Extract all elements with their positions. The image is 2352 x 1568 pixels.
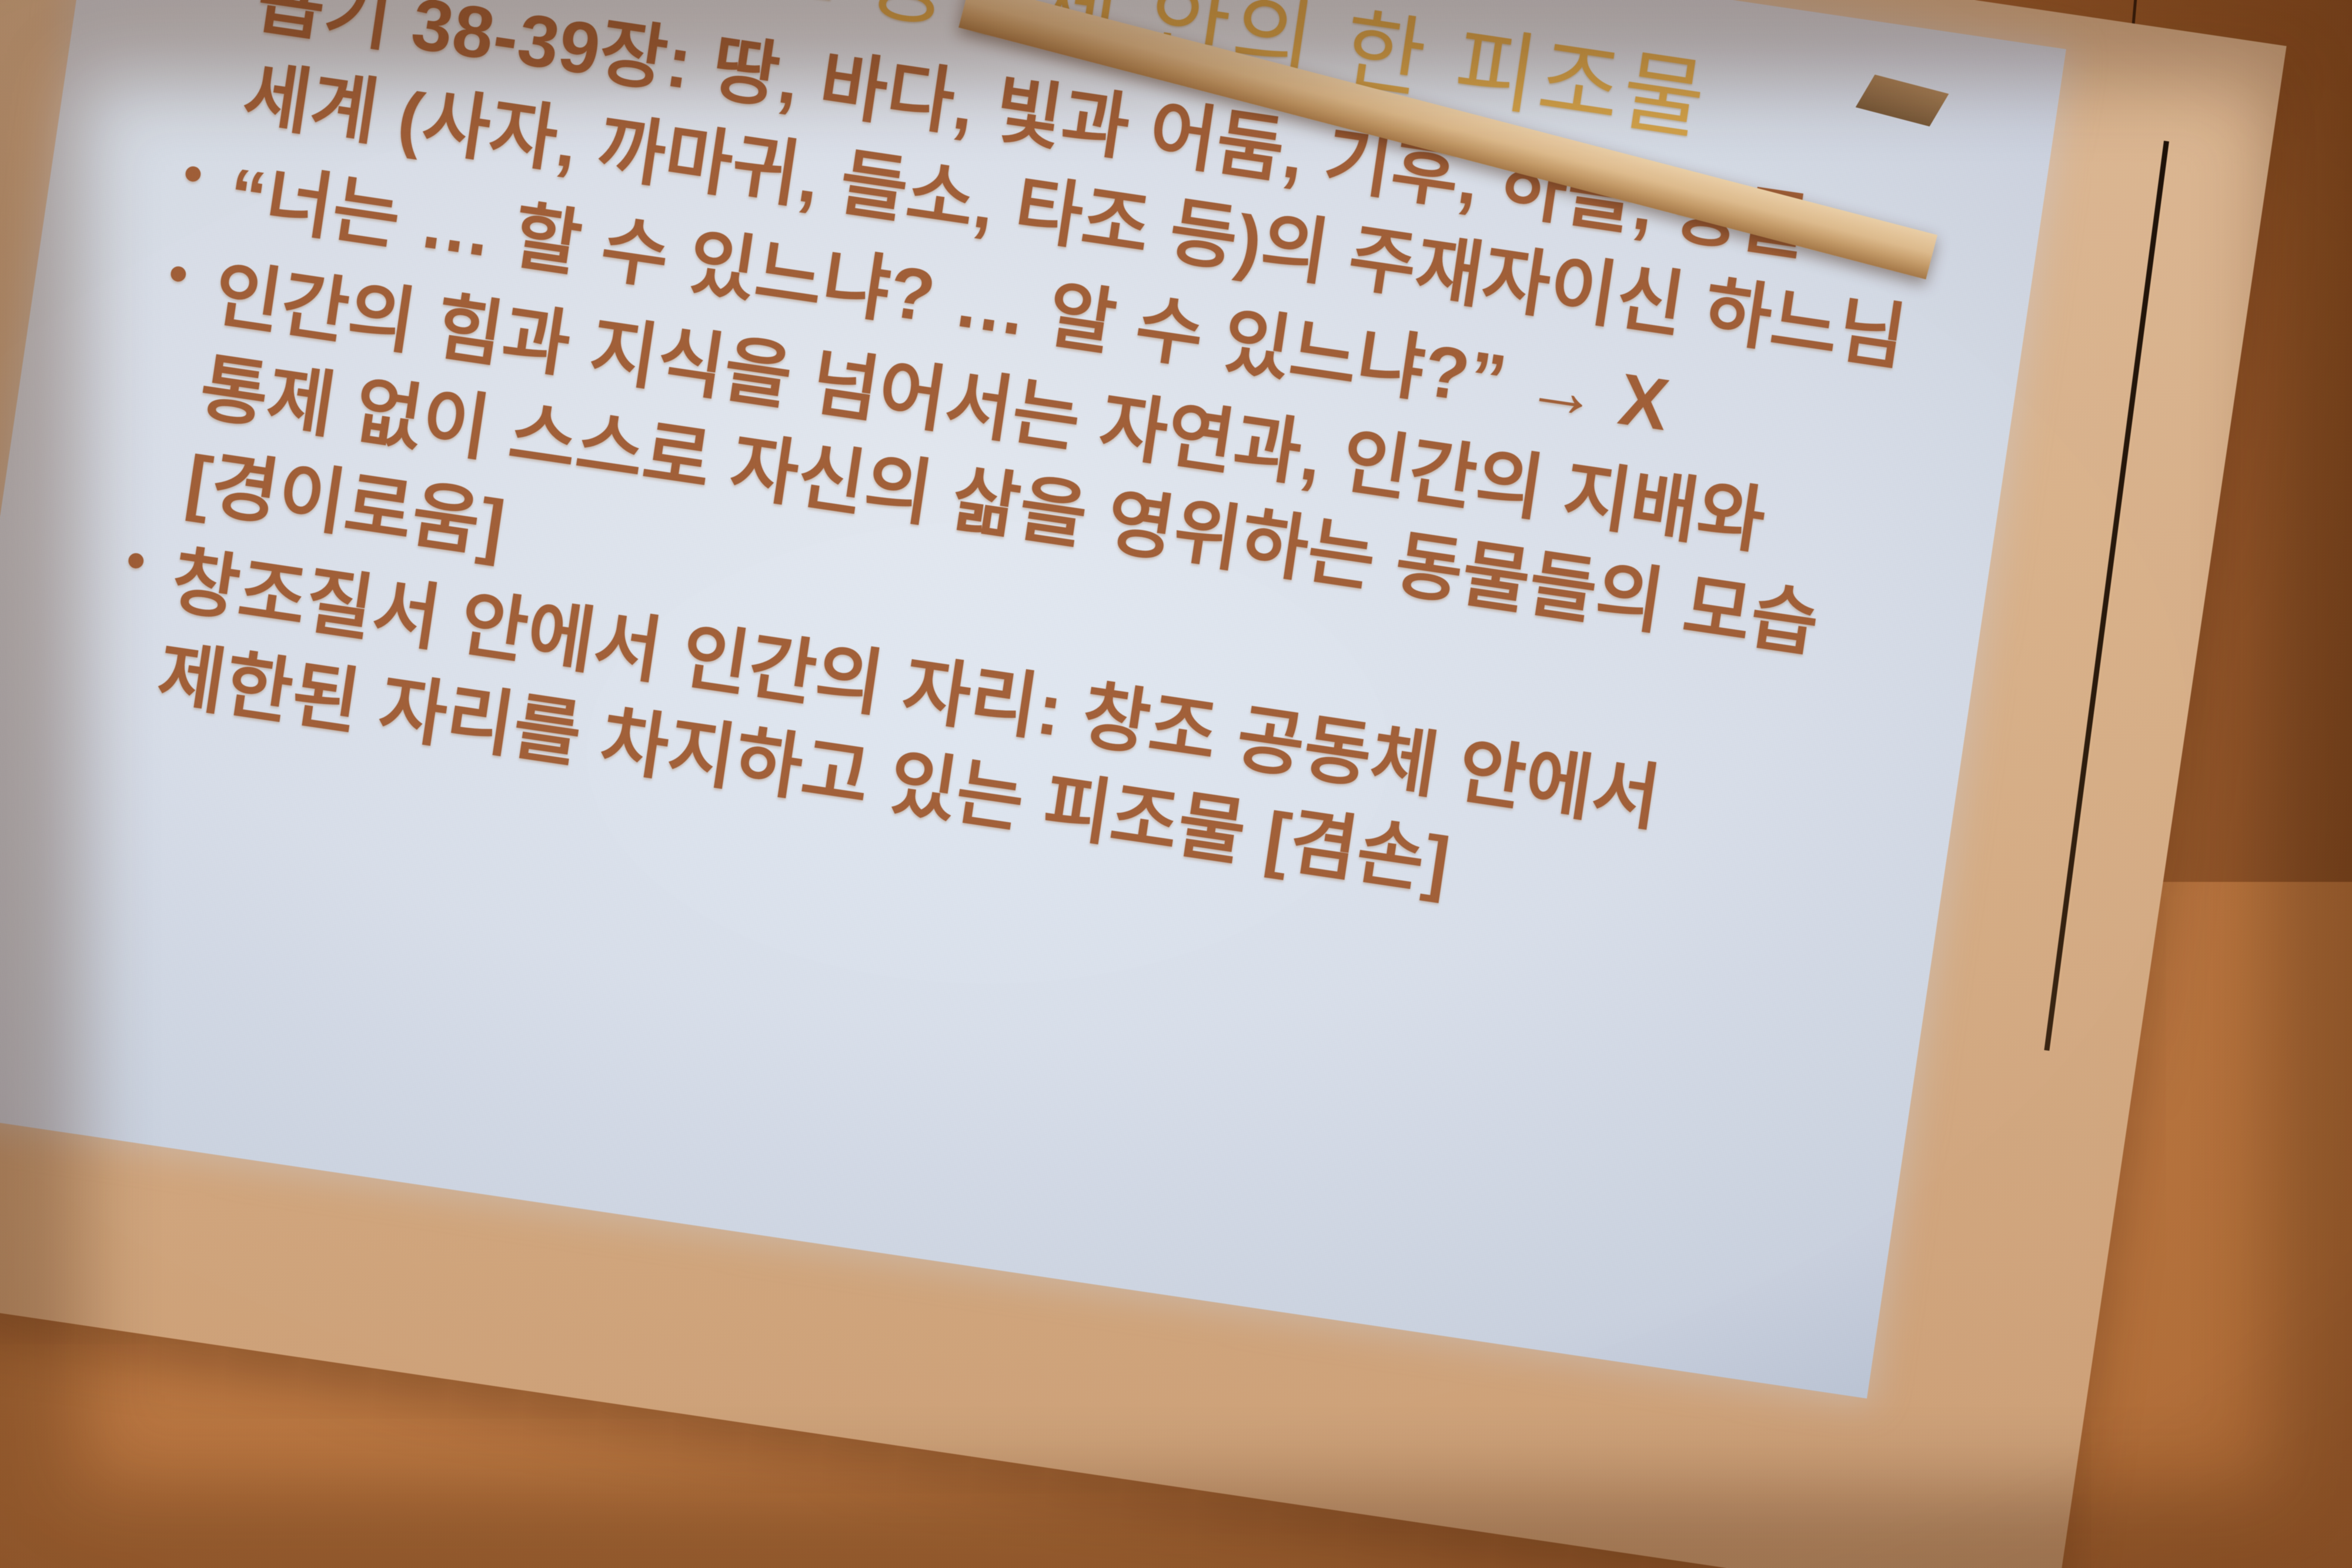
photograph-of-projection-screen: 인간, 창조 공동체 안의 한 피조물 욥기 38-39장: 땅, 바다, 빛과…	[0, 0, 2352, 1568]
slide-bullet-list: 욥기 38-39장: 땅, 바다, 빛과 어둠, 기후, 하늘, 동물 세계 (…	[96, 0, 1931, 967]
projection-screen-fabric: 인간, 창조 공동체 안의 한 피조물 욥기 38-39장: 땅, 바다, 빛과…	[0, 0, 2287, 1568]
slide-content: 인간, 창조 공동체 안의 한 피조물 욥기 38-39장: 땅, 바다, 빛과…	[60, 0, 1982, 978]
